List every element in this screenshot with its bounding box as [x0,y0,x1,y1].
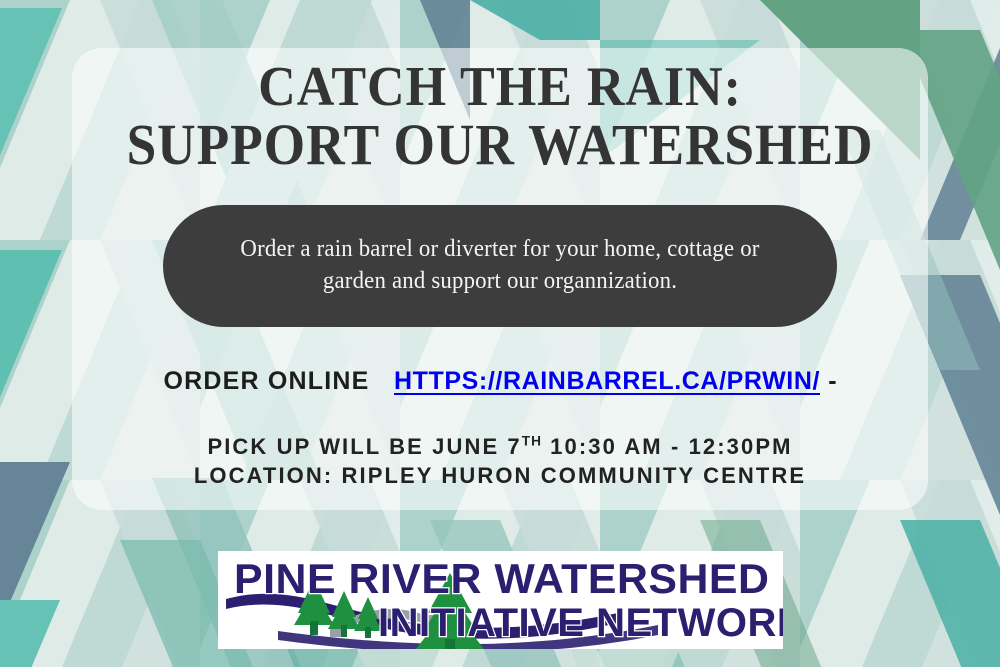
page-title: CATCH THE RAIN: SUPPORT OUR WATERSHED [72,60,928,174]
order-url-link[interactable]: HTTPS://RAINBARREL.CA/PRWIN/ [394,367,820,395]
poster-canvas: CATCH THE RAIN: SUPPORT OUR WATERSHED Or… [0,0,1000,667]
callout-pill: Order a rain barrel or diverter for your… [163,205,837,327]
logo-line-1: PINE RIVER WATERSHED [234,555,769,603]
headline-line-1: CATCH THE RAIN: [102,60,898,115]
order-trailing-dash: - [828,367,836,395]
headline-line-2: SUPPORT OUR WATERSHED [106,117,894,174]
order-online-label: ORDER ONLINE [163,367,369,395]
pickup-location-line: LOCATION: RIPLEY HURON COMMUNITY CENTRE [72,461,928,490]
pickup-details: PICK UP WILL BE JUNE 7TH 10:30 AM - 12:3… [72,432,928,491]
callout-text: Order a rain barrel or diverter for your… [212,234,788,297]
pickup-date-prefix: PICK UP WILL BE JUNE 7 [207,434,521,459]
pickup-time-range: 10:30 AM - 12:30PM [550,434,792,459]
pickup-date-ordinal: TH [522,434,542,449]
logo-line-2: INITIATIVE NETWORK [378,601,783,646]
order-online-line: ORDER ONLINE HTTPS://RAINBARREL.CA/PRWIN… [72,367,928,396]
prwin-logo: PINE RIVER WATERSHED INITIATIVE NETWORK [218,551,783,649]
pickup-time-line: PICK UP WILL BE JUNE 7TH 10:30 AM - 12:3… [72,432,928,461]
